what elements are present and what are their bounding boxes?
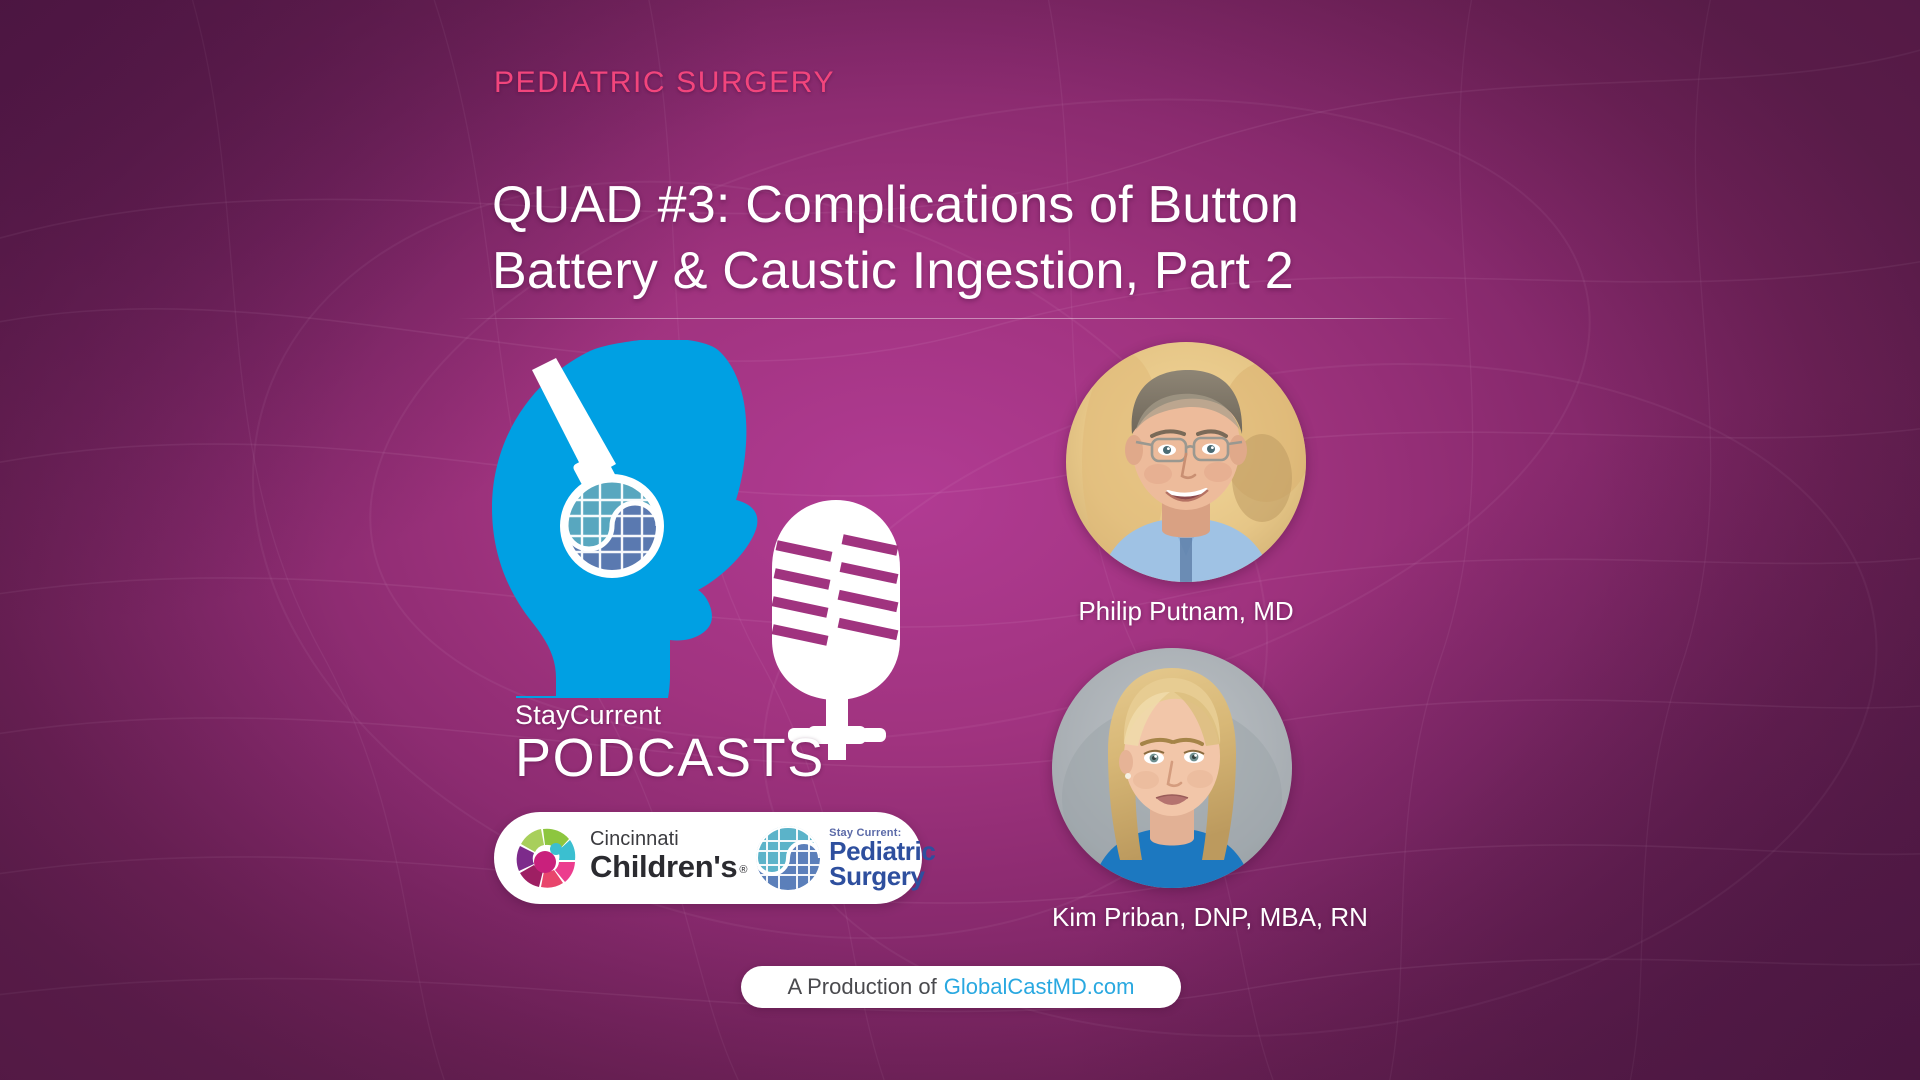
podcast-wordmark-small: StayCurrent [515, 700, 825, 731]
speaker-card-1: Philip Putnam, MD [1066, 342, 1306, 627]
globalcastmd-link[interactable]: GlobalCastMD.com [944, 974, 1135, 1000]
title-line-2: Battery & Caustic Ingestion, Part 2 [492, 238, 1482, 304]
cincinnati-childrens-pinwheel-icon [514, 825, 580, 891]
title-divider [458, 318, 1456, 319]
pediatric-surgery-wordmark: Stay Current: Pediatric Surgery [829, 827, 935, 889]
speaker-name-2: Kim Priban, DNP, MBA, RN [1052, 902, 1292, 933]
production-credit-badge[interactable]: A Production of GlobalCastMD.com [741, 966, 1181, 1008]
registered-mark: ® [739, 854, 747, 887]
speaker-name-1: Philip Putnam, MD [1066, 596, 1306, 627]
stay-current-globe-icon [753, 823, 823, 893]
speaker-card-2: Kim Priban, DNP, MBA, RN [1052, 648, 1292, 933]
surgery-line: Surgery [829, 864, 935, 889]
kim-priban-headshot [1052, 648, 1292, 888]
cincinnati-line: Cincinnati [590, 829, 747, 850]
podcast-wordmark-large: PODCASTS [515, 729, 825, 787]
page-title: QUAD #3: Complications of Button Battery… [492, 172, 1482, 304]
cincinnati-childrens-wordmark: Cincinnati Children's® [590, 829, 747, 887]
slide-canvas: PEDIATRIC SURGERY QUAD #3: Complications… [0, 0, 1920, 1080]
title-quad-label: QUAD #3: [492, 176, 731, 234]
background-vignette [0, 0, 1920, 1080]
production-prefix: A Production of [788, 974, 937, 1000]
childrens-text: Children's [590, 850, 737, 883]
title-line-1-rest: Complications of Button [731, 176, 1299, 234]
childrens-line: Children's® [590, 850, 747, 887]
head-with-headphones-and-microphone-icon [470, 340, 950, 760]
podcast-wordmark: StayCurrent PODCASTS [515, 700, 825, 787]
philip-putnam-headshot [1066, 342, 1306, 582]
page-kicker: PEDIATRIC SURGERY [494, 66, 835, 100]
cincinnati-childrens-badge: Cincinnati Children's® Stay Current [494, 812, 922, 904]
title-line-1: QUAD #3: Complications of Button [492, 172, 1482, 238]
